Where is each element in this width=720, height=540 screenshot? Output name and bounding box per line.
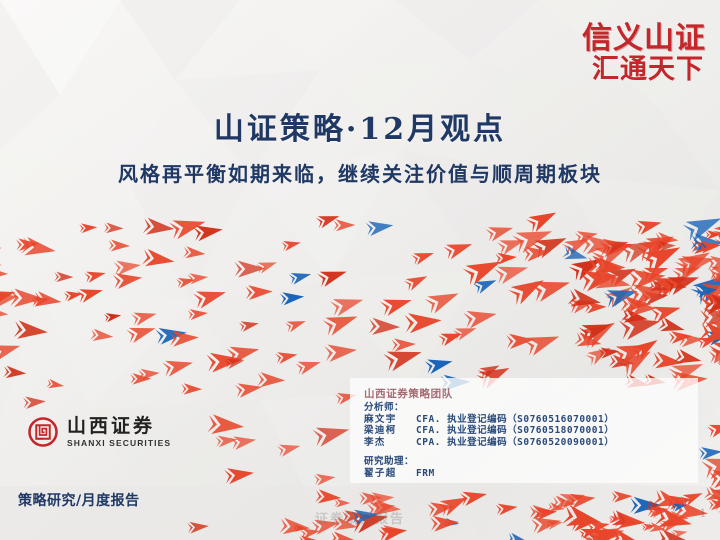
brand-slogan-line1: 信义山证 [582, 24, 706, 54]
assistant-cert: FRM [416, 468, 435, 479]
brand-slogan: 信义山证 汇通天下 [582, 24, 706, 83]
page-subtitle: 风格再平衡如期来临，继续关注价值与顺周期板块 [0, 158, 720, 187]
document-type-label: 策略研究/月度报告 [18, 490, 140, 510]
watermark-text: 证券研究报告 [0, 508, 720, 527]
brand-slogan-line2: 汇通天下 [582, 56, 704, 83]
analyst-row: 麻文宇CFA. 执业登记编码（S0760516070001） [364, 414, 698, 426]
analyst-code: 执业登记编码（S0760516070001） [447, 414, 614, 425]
company-logo-cn: 山西证券 [67, 417, 171, 436]
analyst-row: 李杰CPA. 执业登记编码（S0760520090001） [364, 437, 698, 449]
analyst-name: 李杰 [364, 437, 416, 449]
spacer [364, 448, 698, 456]
analyst-code: 执业登记编码（S0760520090001） [447, 437, 614, 448]
analyst-cert: CFA. [416, 425, 441, 436]
analyst-row: 梁迪柯CFA. 执业登记编码（S0760518070001） [364, 425, 698, 437]
analyst-info-panel: 山西证券策略团队 分析师： 麻文宇CFA. 执业登记编码（S0760516070… [350, 378, 698, 483]
assistant-name: 翟子超 [364, 468, 416, 480]
assistant-section-label: 研究助理： [364, 456, 698, 468]
analyst-cert: CPA. [416, 437, 441, 448]
page-number: 1 [700, 505, 707, 521]
analyst-code: 执业登记编码（S0760518070001） [447, 425, 614, 436]
assistant-row: 翟子超FRM [364, 468, 698, 480]
slide-canvas: 信义山证 汇通天下 山证策略·12月观点 风格再平衡如期来临，继续关注价值与顺周… [0, 0, 720, 540]
page-title: 山证策略·12月观点 [0, 104, 720, 148]
analyst-name: 梁迪柯 [364, 425, 416, 437]
analyst-section-label: 分析师： [364, 402, 698, 414]
company-logo: 山西证券 SHANXI SECURITIES [28, 417, 171, 448]
company-logo-en: SHANXI SECURITIES [67, 439, 171, 448]
analyst-cert: CFA. [416, 414, 441, 425]
team-title: 山西证券策略团队 [364, 386, 698, 401]
analyst-name: 麻文宇 [364, 414, 416, 426]
shanxi-securities-emblem-icon [28, 417, 58, 447]
